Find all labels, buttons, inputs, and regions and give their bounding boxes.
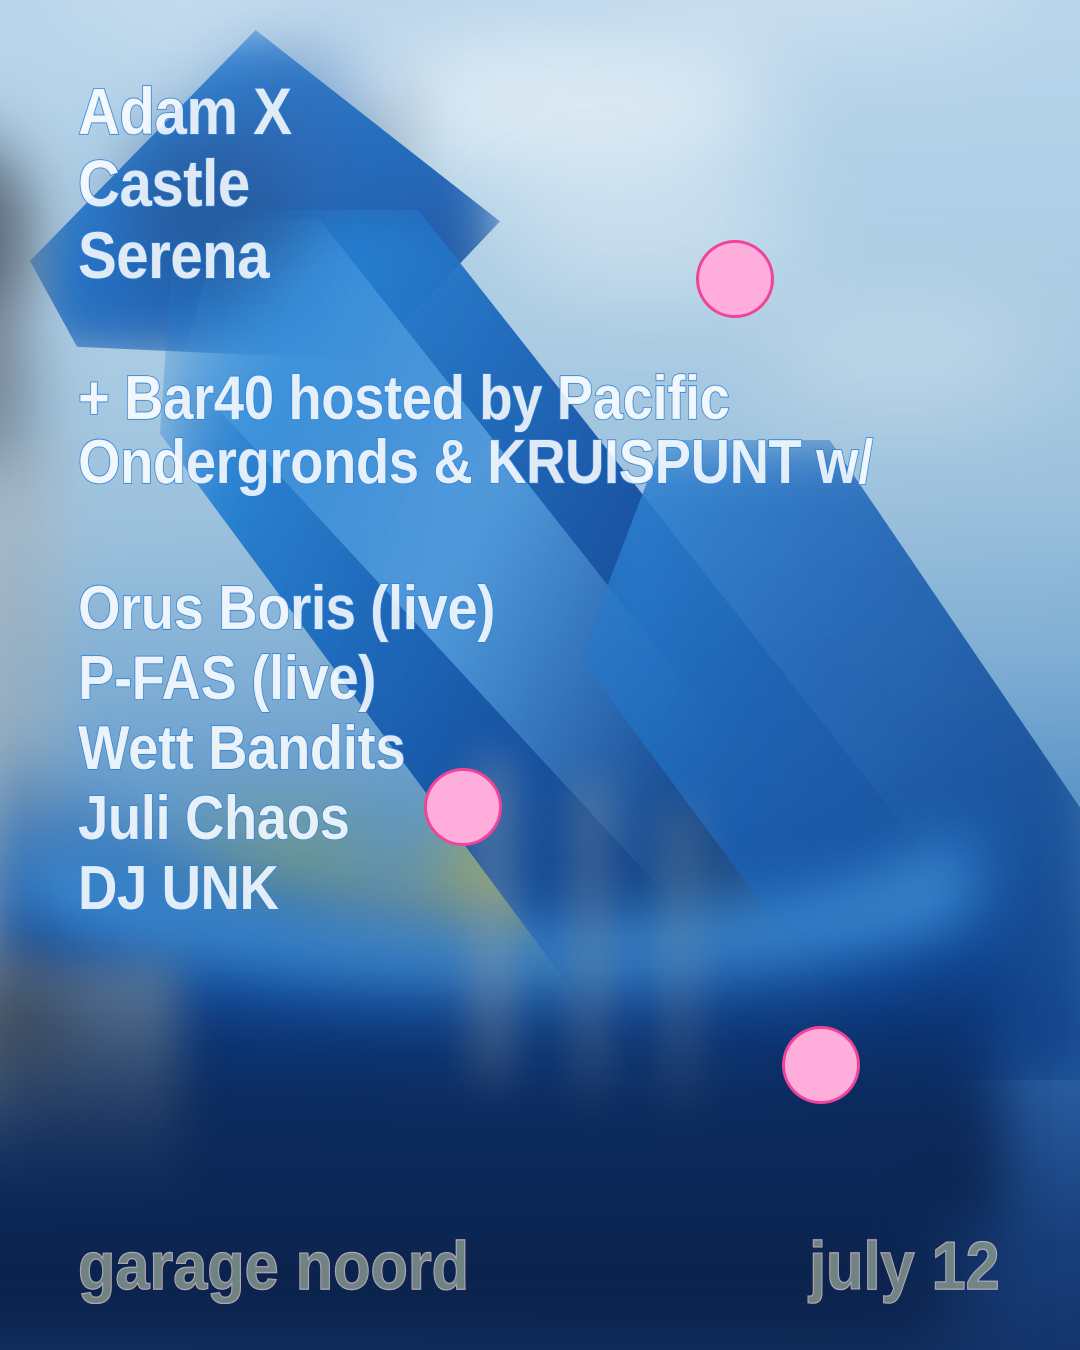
lineup-artist: Wett Bandits	[78, 718, 495, 780]
lineup-list: Orus Boris (live) P-FAS (live) Wett Band…	[78, 578, 552, 928]
hosts-line-1: + Bar40 hosted by Pacific	[78, 368, 873, 430]
lineup-artist: DJ UNK	[78, 858, 495, 920]
headliner-name: Adam X	[78, 78, 292, 144]
hosts-line-2: Ondergronds & KRUISPUNT w/	[78, 432, 873, 494]
event-poster: Adam X Castle Serena + Bar40 hosted by P…	[0, 0, 1080, 1350]
headliner-list: Adam X Castle Serena	[78, 78, 321, 294]
lineup-artist: Orus Boris (live)	[78, 578, 495, 640]
cloud	[360, 30, 780, 180]
pink-dot-middle	[424, 768, 502, 846]
headliner-name: Serena	[78, 222, 292, 288]
headliner-name: Castle	[78, 150, 292, 216]
pink-dot-top-right	[696, 240, 774, 318]
lineup-artist: P-FAS (live)	[78, 648, 495, 710]
venue-name: garage noord	[78, 1232, 469, 1300]
event-date: july 12	[809, 1232, 1000, 1300]
pink-dot-lower-right	[782, 1026, 860, 1104]
hosts-block: + Bar40 hosted by Pacific Ondergronds & …	[78, 368, 981, 496]
